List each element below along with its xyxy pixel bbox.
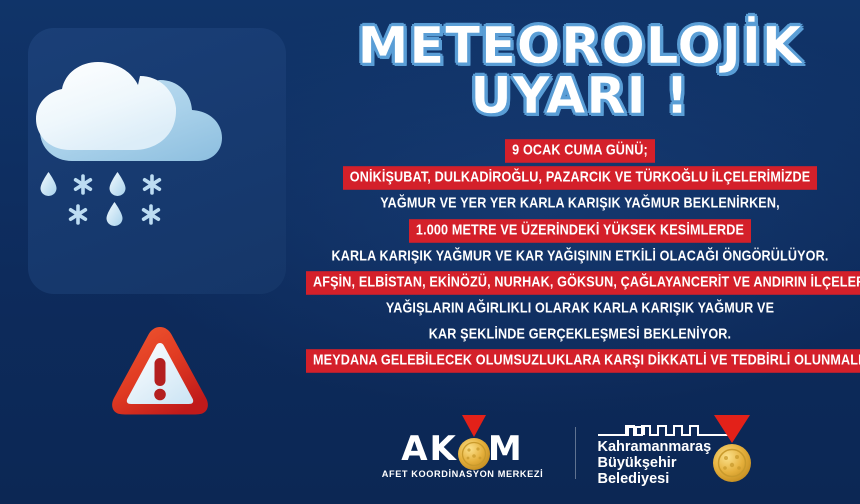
snowflake-icon — [142, 174, 162, 195]
precip-row-1 — [40, 172, 216, 196]
logo-divider — [575, 427, 576, 479]
gold-medal-icon — [710, 415, 754, 485]
rain-drop-icon — [40, 172, 57, 196]
page-title: METEOROLOJİK UYARI ! — [300, 22, 860, 123]
warning-line: AFŞİN, ELBİSTAN, EKİNÖZÜ, NURHAK, GÖKSUN… — [306, 271, 860, 295]
akom-name-right: M — [488, 429, 524, 469]
rain-and-snow-cloud-icon — [28, 62, 228, 170]
rain-drop-icon — [109, 172, 126, 196]
akom-name-left: AK — [401, 429, 458, 469]
precip-row-2 — [68, 202, 216, 226]
rain-drop-icon — [106, 202, 123, 226]
warning-line: MEYDANA GELEBİLECEK OLUMSUZLUKLARA KARŞI… — [306, 349, 860, 373]
precipitation-icons — [36, 172, 216, 246]
warning-line: YAĞMUR VE YER YER KARLA KARIŞIK YAĞMUR B… — [306, 194, 854, 215]
left-icon-column — [0, 0, 300, 504]
warning-line: ONİKİŞUBAT, DULKADİROĞLU, PAZARCIK VE TÜ… — [343, 166, 818, 190]
akom-subtitle: AFET KOORDİNASYON MERKEZİ — [373, 469, 553, 479]
warning-line: 9 OCAK CUMA GÜNÜ; — [505, 139, 655, 163]
warning-line: YAĞIŞLARIN AĞIRLIKLI OLARAK KARLA KARIŞI… — [306, 299, 854, 320]
warning-line: KAR ŞEKLİNDE GERÇEKLEŞMESİ BEKLENİYOR. — [306, 324, 854, 345]
akom-logo: AKM AFET KOORDİNASYON M — [373, 413, 553, 493]
snowflake-icon — [73, 174, 93, 195]
snowflake-icon — [68, 204, 88, 225]
snowflake-icon — [141, 204, 161, 225]
warning-triangle-icon — [108, 322, 212, 418]
warning-line: KARLA KARIŞIK YAĞMUR VE KAR YAĞIŞININ ET… — [306, 246, 854, 267]
title-line-2: UYARI ! — [300, 72, 860, 122]
gold-medal-icon — [457, 415, 491, 473]
warning-line: 1.000 METRE VE ÜZERİNDEKİ YÜKSEK KESİMLE… — [409, 219, 751, 243]
footer-logos: AKM AFET KOORDİNASYON M — [300, 410, 860, 496]
meteorological-warning-poster: METEOROLOJİK UYARI ! 9 OCAK CUMA GÜNÜ; O… — [0, 0, 860, 504]
warning-body-text: 9 OCAK CUMA GÜNÜ; ONİKİŞUBAT, DULKADİROĞ… — [300, 141, 860, 371]
municipality-logo: Kahramanmaraş Büyükşehir Belediyesi — [598, 413, 788, 493]
